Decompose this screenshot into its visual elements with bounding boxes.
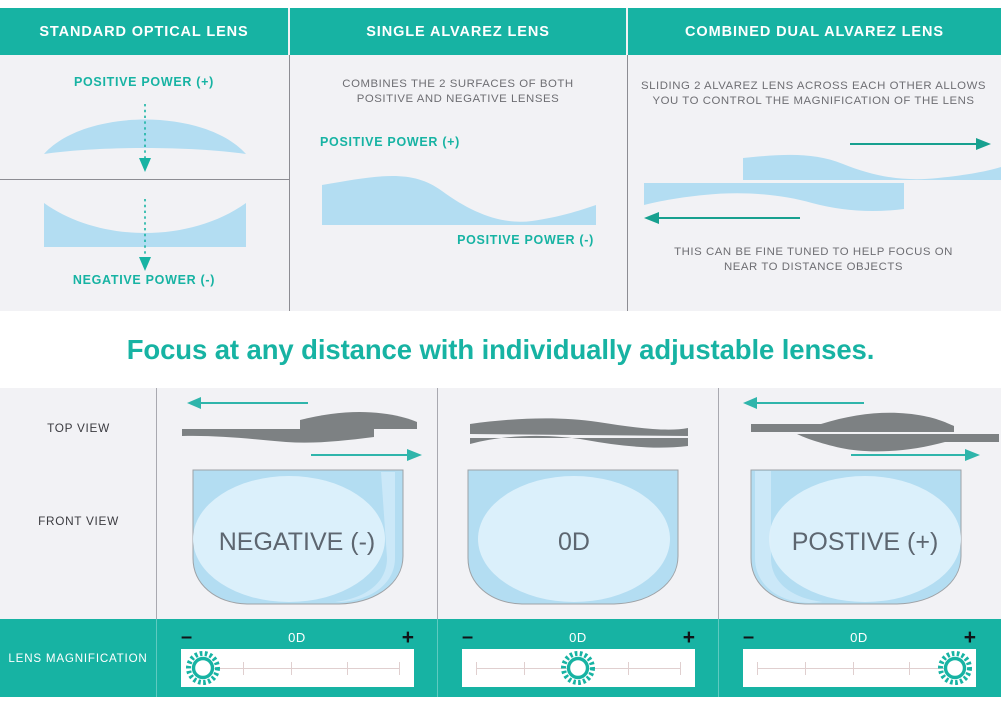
label-lens-magnification: LENS MAGNIFICATION (8, 652, 147, 665)
column-header-single-alvarez-lens: SINGLE ALVAREZ LENS (290, 8, 628, 55)
panel-single-alvarez-lens: COMBINES THE 2 SURFACES OF BOTH POSITIVE… (290, 55, 628, 311)
decrease-magnification-button[interactable]: – (462, 627, 473, 647)
view-row-labels: TOP VIEW FRONT VIEW (0, 388, 157, 619)
slider-track (195, 668, 400, 669)
top-view-lens-pair-shape (468, 414, 690, 450)
slider-tick (291, 662, 292, 675)
slider-tick (628, 662, 629, 675)
slider-header: – 0D + (462, 627, 695, 647)
front-view-lens-positive-shape: POSTIVE (+) (747, 466, 971, 611)
arrow-left-icon (642, 211, 802, 225)
magnification-slider[interactable] (462, 649, 695, 687)
slider-tick (524, 662, 525, 675)
arrow-left-icon (185, 396, 310, 410)
slider-tick (243, 662, 244, 675)
label-positive-power: POSITIVE POWER (+) (0, 75, 288, 89)
magnification-control-negative: – 0D + (157, 619, 438, 697)
magnification-slider[interactable] (743, 649, 976, 687)
lens-magnification-bar: LENS MAGNIFICATION – 0D + (0, 619, 1001, 697)
concave-lens-shape (40, 195, 250, 281)
diopter-value: 0D (569, 630, 587, 645)
arrow-right-icon (849, 448, 984, 462)
slider-tick (853, 662, 854, 675)
label-top-view: TOP VIEW (0, 421, 157, 435)
front-view-lens-text-positive: POSTIVE (+) (792, 528, 939, 556)
views-row: TOP VIEW FRONT VIEW (0, 388, 1001, 619)
decrease-magnification-button[interactable]: – (181, 627, 192, 647)
diopter-value: 0D (288, 630, 306, 645)
front-view-lens-negative-shape: NEGATIVE (-) (189, 466, 409, 611)
label-negative-power: NEGATIVE POWER (-) (0, 273, 288, 287)
slider-knob[interactable] (939, 652, 971, 684)
slider-tick (805, 662, 806, 675)
arrow-left-icon (741, 396, 866, 410)
slider-tick (909, 662, 910, 675)
lens-column-negative: NEGATIVE (-) (157, 388, 438, 619)
increase-magnification-button[interactable]: + (402, 627, 414, 648)
slider-track (757, 668, 962, 669)
lens-column-zero: 0D (438, 388, 719, 619)
lens-column-positive: POSTIVE (+) (719, 388, 1000, 619)
diopter-value: 0D (850, 630, 868, 645)
caption-combines-surfaces: COMBINES THE 2 SURFACES OF BOTH POSITIVE… (290, 77, 626, 107)
column-header-combined-dual-alvarez-lens: COMBINED DUAL ALVAREZ LENS (628, 8, 1001, 55)
slider-knob[interactable] (562, 652, 594, 684)
arrow-right-icon (309, 448, 424, 462)
caption-fine-tuned: THIS CAN BE FINE TUNED TO HELP FOCUS ON … (628, 245, 999, 275)
column-header-standard-optical-lens: STANDARD OPTICAL LENS (0, 8, 290, 55)
decrease-magnification-button[interactable]: – (743, 627, 754, 647)
front-view-lens-text-zero: 0D (558, 528, 590, 556)
label-positive-power-minus: POSITIVE POWER (-) (290, 233, 594, 247)
comparison-section: STANDARD OPTICAL LENS SINGLE ALVAREZ LEN… (0, 0, 1001, 311)
front-view-lens-text-negative: NEGATIVE (-) (219, 528, 375, 556)
slider-tick (399, 662, 400, 675)
magnification-row-label: LENS MAGNIFICATION (0, 619, 157, 697)
magnification-slider[interactable] (181, 649, 414, 687)
slider-tick (680, 662, 681, 675)
convex-lens-shape (40, 100, 250, 178)
label-front-view: FRONT VIEW (0, 514, 157, 528)
caption-sliding-lenses: SLIDING 2 ALVAREZ LENS ACROSS EACH OTHER… (628, 79, 999, 109)
panel-standard-optical-lens: POSITIVE POWER (+) NEGATIVE POWER (-) (0, 55, 290, 311)
comparison-header-bar: STANDARD OPTICAL LENS SINGLE ALVAREZ LEN… (0, 8, 1001, 55)
infographic-page: STANDARD OPTICAL LENS SINGLE ALVAREZ LEN… (0, 0, 1001, 709)
front-view-lens-zero-shape: 0D (464, 466, 684, 611)
comparison-panels: POSITIVE POWER (+) NEGATIVE POWER (-) C (0, 55, 1001, 311)
label-positive-power-plus: POSITIVE POWER (+) (320, 135, 460, 149)
slider-tick (476, 662, 477, 675)
panel-combined-dual-alvarez-lens: SLIDING 2 ALVAREZ LENS ACROSS EACH OTHER… (628, 55, 1001, 311)
top-view-lens-pair-shape (182, 410, 417, 452)
alvarez-lens-shape (320, 163, 598, 229)
panel1-divider (0, 179, 289, 180)
increase-magnification-button[interactable]: + (683, 627, 695, 648)
arrow-right-icon (848, 137, 993, 151)
magnification-control-zero: – 0D + (438, 619, 719, 697)
slider-tick (757, 662, 758, 675)
slider-tick (347, 662, 348, 675)
slider-knob[interactable] (187, 652, 219, 684)
slider-header: – 0D + (743, 627, 976, 647)
lens-views-section: TOP VIEW FRONT VIEW (0, 388, 1001, 703)
magnification-control-positive: – 0D + (719, 619, 1000, 697)
slider-header: – 0D + (181, 627, 414, 647)
increase-magnification-button[interactable]: + (964, 627, 976, 648)
lower-alvarez-lens-shape (642, 179, 910, 215)
headline-text: Focus at any distance with individually … (0, 311, 1001, 388)
